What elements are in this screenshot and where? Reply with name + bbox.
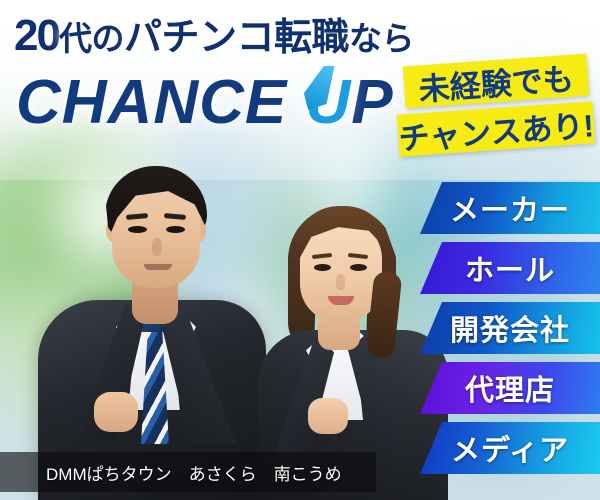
male-eye-left <box>128 226 147 233</box>
credit-bar: DMMぱちタウン あさくら 南こうめ <box>0 452 376 492</box>
headline-number: 20 <box>14 11 59 60</box>
male-hand <box>94 392 138 432</box>
nav-button-maker[interactable]: メーカー <box>420 182 600 234</box>
headline-text: 20代のパチンコ転職なら <box>14 14 414 58</box>
logo-letter-p: P <box>351 68 393 137</box>
female-nose <box>336 274 345 290</box>
male-eye-right <box>166 226 185 233</box>
male-mouth <box>144 264 172 270</box>
female-hand <box>308 398 348 434</box>
nav-button-media[interactable]: メディア <box>420 422 600 474</box>
headline-tail: なら <box>349 20 414 57</box>
female-eye-left <box>314 264 331 271</box>
headline-keyword: パチンコ転職 <box>124 17 349 59</box>
headline-suffix: 代の <box>59 20 124 57</box>
logo-text-chance: CHANCE <box>16 68 305 137</box>
nav-button-hall[interactable]: ホール <box>420 242 600 294</box>
male-nose <box>152 238 162 256</box>
recruitment-banner: 20代のパチンコ転職なら CHANCE UP 未経験でも チャンスあり! メーカ… <box>0 0 600 500</box>
credit-text: DMMぱちタウン あさくら 南こうめ <box>46 460 342 485</box>
nav-button-agency[interactable]: 代理店 <box>420 362 600 414</box>
chance-up-logo: CHANCE UP <box>16 72 394 134</box>
nav-button-developer[interactable]: 開発会社 <box>420 302 600 354</box>
female-eye-right <box>350 264 367 271</box>
